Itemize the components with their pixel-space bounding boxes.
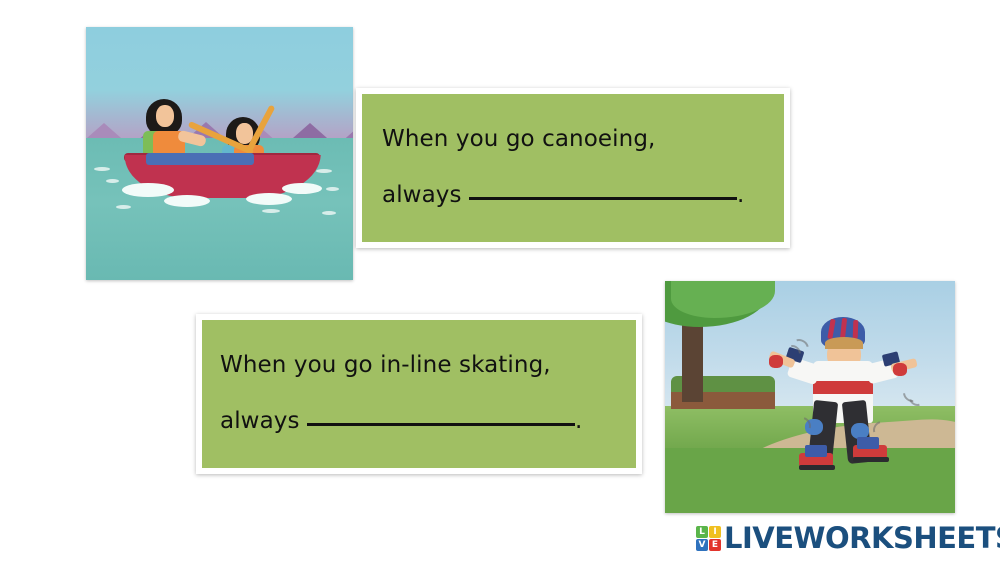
skate-boot-right [857,437,879,449]
jersey-stripe [813,381,873,394]
skate-boot-left [805,445,827,457]
water-ripple [262,209,280,213]
logo-wordmark: LIVEWORKSHEETS [724,524,1000,553]
logo-block-l: L [696,526,708,538]
water-ripple [316,169,332,173]
skate-wheels-right [853,457,889,462]
prompt-line-1: When you go in-line skating, [220,352,551,378]
prompt-line-2: always . [220,408,582,434]
water-ripple [94,167,110,171]
water-ripple [326,187,339,191]
water-foam [164,195,210,207]
water-foam [282,183,322,194]
prompt-line-1: When you go canoeing, [382,126,655,152]
prompt-line-2-suffix: . [575,408,582,434]
water-foam [122,183,174,197]
logo-block-v: V [696,539,708,551]
in-line-skating-picture-canvas [665,281,955,513]
water-foam [246,193,292,205]
skate-wheels-left [799,465,835,470]
answer-blank[interactable] [307,423,575,426]
prompt-card-in-line-skating: When you go in-line skating, always . [196,314,642,474]
prompt-line-2-prefix: always [220,408,307,434]
logo-blocks-icon: L I V E [696,526,721,551]
prompt-line-2-suffix: . [737,182,744,208]
canoeing-picture-canvas [86,27,353,280]
hair-shape [825,337,863,349]
canoe-interior [146,153,254,165]
water-ripple [322,211,336,215]
water-ripple [116,205,131,209]
logo-block-i: I [709,526,721,538]
water-ripple [106,179,119,183]
prompt-line-2: always . [382,182,744,208]
prompt-line-2-prefix: always [382,182,469,208]
answer-blank[interactable] [469,197,737,200]
face-shape [156,105,174,127]
glove-left [769,355,783,368]
glove-right [893,363,907,376]
in-line-skating-picture [665,281,955,513]
logo-block-e: E [709,539,721,551]
prompt-card-canoeing: When you go canoeing, always . [356,88,790,248]
canoeing-picture [86,27,353,280]
liveworksheets-logo: L I V E LIVEWORKSHEETS [696,524,1000,553]
helmet-stripe [853,320,859,339]
